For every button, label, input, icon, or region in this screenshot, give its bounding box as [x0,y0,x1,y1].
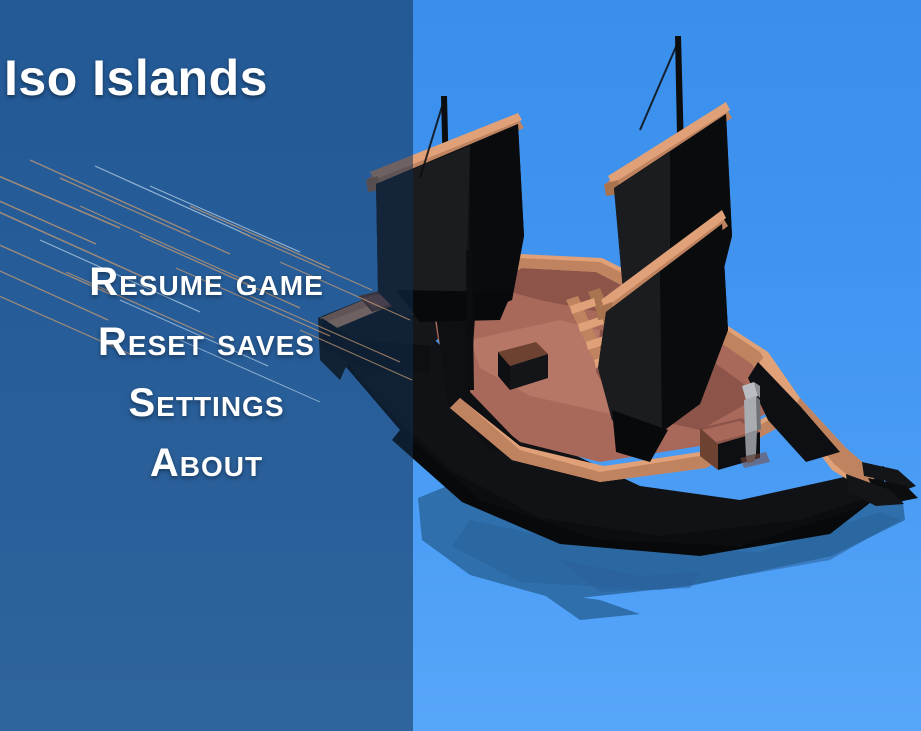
menu-item-settings[interactable]: Settings [118,373,294,433]
menu-ui-layer: Iso Islands Resume game Reset saves Sett… [0,0,921,731]
menu-item-reset-saves[interactable]: Reset saves [88,312,325,372]
game-title: Iso Islands [0,52,413,105]
menu-container: Iso Islands Resume game Reset saves Sett… [0,0,413,731]
main-menu-list: Resume game Reset saves Settings About [0,252,413,494]
game-main-menu-screen: Iso Islands Resume game Reset saves Sett… [0,0,921,731]
menu-item-about[interactable]: About [140,433,273,493]
menu-item-resume-game[interactable]: Resume game [79,252,334,312]
